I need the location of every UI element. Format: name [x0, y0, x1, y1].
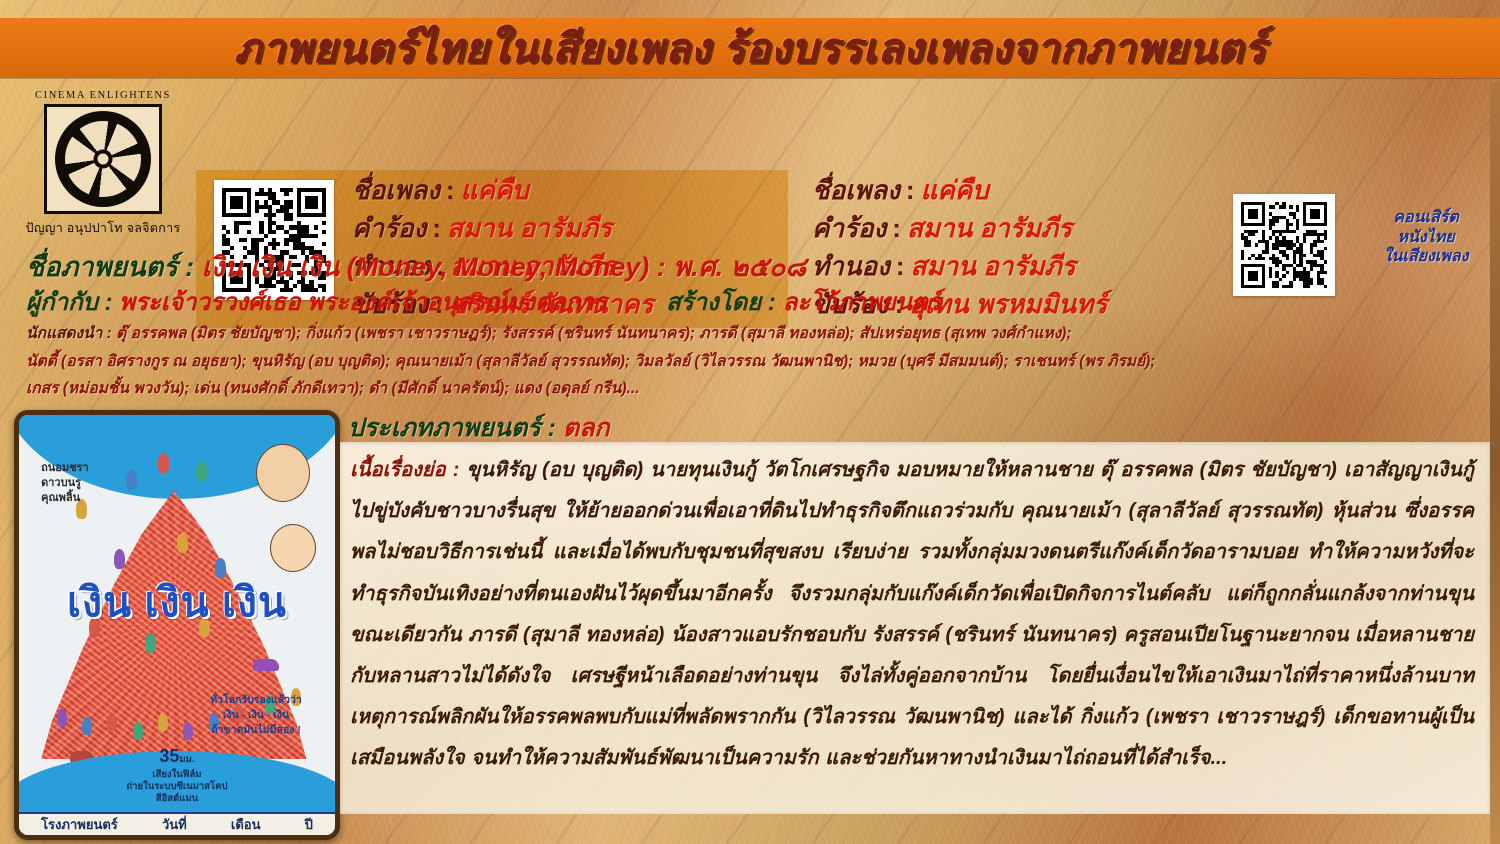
- poster-strip-cell: ปี: [305, 814, 313, 835]
- colon: :: [892, 213, 901, 244]
- poster-badge-line3: คุณพลิ้น: [41, 491, 186, 506]
- genre-label: ประเภทภาพยนตร์ :: [348, 414, 556, 442]
- poster-actor-face-female: [270, 524, 316, 572]
- poster-format-note: 35มม. เสียงในฟิล์ม ถ่ายในระบบซีเนมาสโคป …: [107, 745, 246, 805]
- cast-label: นักแสดงนำ :: [26, 325, 116, 342]
- synopsis-text: เนื้อเรื่องย่อ : ขุนหิรัญ (อบ บุญติด) นา…: [350, 450, 1474, 780]
- movie-title-value: เงิน เงิน เงิน (Money, Money, Money) : พ…: [202, 252, 807, 282]
- poster-format-unit: มม.: [179, 754, 194, 765]
- song-title-row: ชื่อเพลง : แค่คืบ: [352, 170, 653, 208]
- poster-badge: ถนอมชรา ดาวบนรู คุณพลิ้น: [41, 461, 186, 506]
- producer-label: สร้างโดย :: [666, 289, 776, 316]
- song-title-value: แค่คืบ: [461, 170, 529, 211]
- poster-format-line3: สีอิสต์แมน: [107, 793, 246, 805]
- colon: :: [446, 175, 455, 206]
- song-lyrics-label: คำร้อง: [812, 208, 886, 249]
- movie-director-line: ผู้กำกับ : พระเจ้าวรวงศ์เธอ พระองค์เจ้าอ…: [26, 289, 1486, 317]
- poster-booking-strip: โรงภาพยนตร์ วันที่ เดือน ปี: [19, 812, 335, 835]
- poster-tagline-1: ทั่วโลกรับรองแล้วว่า: [193, 693, 319, 708]
- cast-line: นักแสดงนำ : ตุ๊ อรรคพล (มิตร ชัยบัญชา); …: [26, 320, 1488, 348]
- poster-tagline-2: เงิน - เงิน - เงิน: [193, 708, 319, 723]
- colon: :: [906, 175, 915, 206]
- poster-artwork: ถนอมชรา ดาวบนรู คุณพลิ้น เงิน เงิน เงิน …: [19, 415, 335, 835]
- colon: :: [432, 213, 441, 244]
- logo-subtitle: ปัญญา อนุปปาโท จลจิตการ: [26, 218, 181, 238]
- concert-note-line2: หนังไทย: [1362, 228, 1490, 248]
- poster-strip-cell: เดือน: [231, 814, 261, 835]
- poster-title: เงิน เงิน เงิน: [35, 583, 319, 622]
- poster-format-number: 35: [159, 746, 179, 766]
- cinema-enlightens-logo: CINEMA ENLIGHTENS ปัญญา อนุปปาโท จลจิตกา…: [24, 86, 182, 238]
- top-info-row: CINEMA ENLIGHTENS ปัญญา อนุปปาโท จลจิตกา…: [0, 82, 1500, 250]
- song-title-value: แค่คืบ: [921, 170, 989, 211]
- song-title-label: ชื่อเพลง: [352, 170, 440, 211]
- genre-value: ตลก: [563, 414, 610, 442]
- song-lyrics-value: สมาน อารัมภีร: [447, 208, 612, 249]
- song-title-label: ชื่อเพลง: [812, 170, 900, 211]
- header-band: ภาพยนตร์ไทยในเสียงเพลง ร้องบรรเลงเพลงจาก…: [0, 18, 1500, 78]
- right-edge-strip: [1490, 82, 1500, 844]
- synopsis-label: เนื้อเรื่องย่อ :: [350, 459, 467, 481]
- poster-badge-line1: ถนอมชรา: [41, 461, 186, 476]
- movie-poster[interactable]: ถนอมชรา ดาวบนรู คุณพลิ้น เงิน เงิน เงิน …: [14, 410, 340, 840]
- film-reel-icon: [44, 104, 162, 214]
- concert-note-line1: คอนเสิร์ต: [1362, 208, 1490, 228]
- director-value: พระเจ้าวรวงศ์เธอ พระองค์เจ้าอนุสรณ์มงคลก…: [119, 289, 606, 316]
- song-lyrics-row: คำร้อง : สมาน อารัมภีร: [352, 208, 653, 246]
- logo-caption: CINEMA ENLIGHTENS: [35, 90, 171, 101]
- poster-strip-cell: โรงภาพยนตร์: [41, 814, 118, 835]
- song-lyrics-row: คำร้อง : สมาน อารัมภีร: [812, 208, 1107, 246]
- synopsis-body: ขุนหิรัญ (อบ บุญติด) นายทุนเงินกู้ วัตโก…: [350, 459, 1474, 769]
- movie-title-label: ชื่อภาพยนตร์ :: [26, 252, 194, 282]
- producer-value: ละโว้ภาพยนตร์: [783, 289, 941, 316]
- movie-title-line: ชื่อภาพยนตร์ : เงิน เงิน เงิน (Money, Mo…: [26, 252, 1486, 283]
- director-label: ผู้กำกับ :: [26, 289, 113, 316]
- poster-tagline: ทั่วโลกรับรองแล้วว่า เงิน - เงิน - เงิน …: [193, 693, 319, 739]
- movie-meta: ชื่อภาพยนตร์ : เงิน เงิน เงิน (Money, Mo…: [26, 252, 1486, 317]
- song-lyrics-label: คำร้อง: [352, 208, 426, 249]
- poster-strip-cell: วันที่: [162, 814, 187, 835]
- song-title-row: ชื่อเพลง : แค่คืบ: [812, 170, 1107, 208]
- cast-line-text: ตุ๊ อรรคพล (มิตร ชัยบัญชา); กิ่งแก้ว (เพ…: [116, 325, 1071, 342]
- song-lyrics-value: สมาน อารัมภีร: [907, 208, 1072, 249]
- cast-list: นักแสดงนำ : ตุ๊ อรรคพล (มิตร ชัยบัญชา); …: [26, 320, 1488, 403]
- poster-format-line2: ถ่ายในระบบซีเนมาสโคป: [107, 781, 246, 793]
- poster-actor-face-male: [256, 444, 310, 502]
- cast-line: เกสร (หม่อมชั้น พวงวัน); เด่น (ทนงศักดิ์…: [26, 375, 1488, 403]
- poster-tagline-3: ถ้าขาดมันไม่มีสอง !: [193, 723, 319, 738]
- cast-line: นัตตี้ (อรสา อิศรางกูร ณ อยุธยา); ขุนหิร…: [26, 348, 1488, 376]
- synopsis-panel: เนื้อเรื่องย่อ : ขุนหิรัญ (อบ บุญติด) นา…: [340, 442, 1490, 814]
- poster-format-line1: เสียงในฟิล์ม: [107, 769, 246, 781]
- page-title: ภาพยนตร์ไทยในเสียงเพลง ร้องบรรเลงเพลงจาก…: [234, 28, 1266, 69]
- poster-badge-line2: ดาวบนรู: [41, 476, 186, 491]
- slide-canvas: ภาพยนตร์ไทยในเสียงเพลง ร้องบรรเลงเพลงจาก…: [0, 0, 1500, 844]
